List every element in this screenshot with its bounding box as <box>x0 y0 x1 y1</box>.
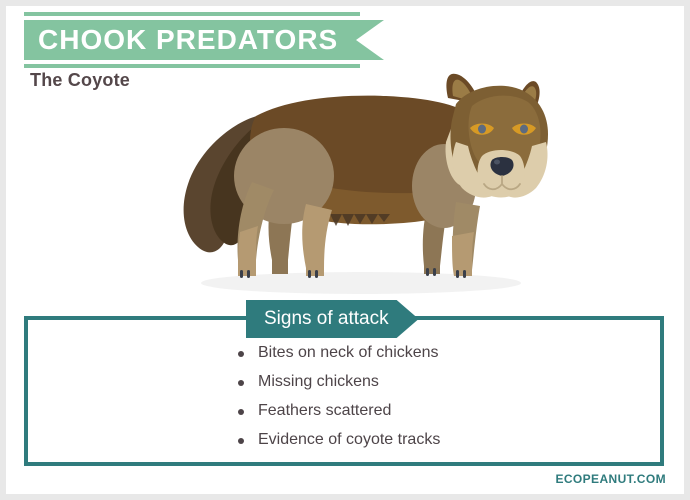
signs-of-attack-banner: Signs of attack <box>246 300 419 338</box>
list-item: Bites on neck of chickens <box>234 344 440 362</box>
site-watermark: ECOPEANUT.COM <box>555 472 666 486</box>
hind-leg-near-shin <box>238 226 258 276</box>
front-leg-near-shin <box>452 232 474 276</box>
header-ribbon: CHOOK PREDATORS <box>24 12 384 68</box>
list-item: Feathers scattered <box>234 402 440 420</box>
coyote-illustration <box>156 64 556 304</box>
infographic-canvas: CHOOK PREDATORS The Coyote <box>6 6 684 494</box>
pupil-left <box>478 125 486 134</box>
infographic-page: CHOOK PREDATORS The Coyote <box>0 0 690 500</box>
hind-leg-mid <box>302 204 332 276</box>
page-title: CHOOK PREDATORS <box>38 20 338 60</box>
subtitle: The Coyote <box>30 70 130 91</box>
list-item: Missing chickens <box>234 373 440 391</box>
signs-of-attack-list: Bites on neck of chickens Missing chicke… <box>234 344 440 460</box>
nose-highlight <box>494 160 500 165</box>
list-item: Evidence of coyote tracks <box>234 431 440 449</box>
ribbon-stripe-top <box>24 12 360 16</box>
pupil-right <box>520 125 528 134</box>
